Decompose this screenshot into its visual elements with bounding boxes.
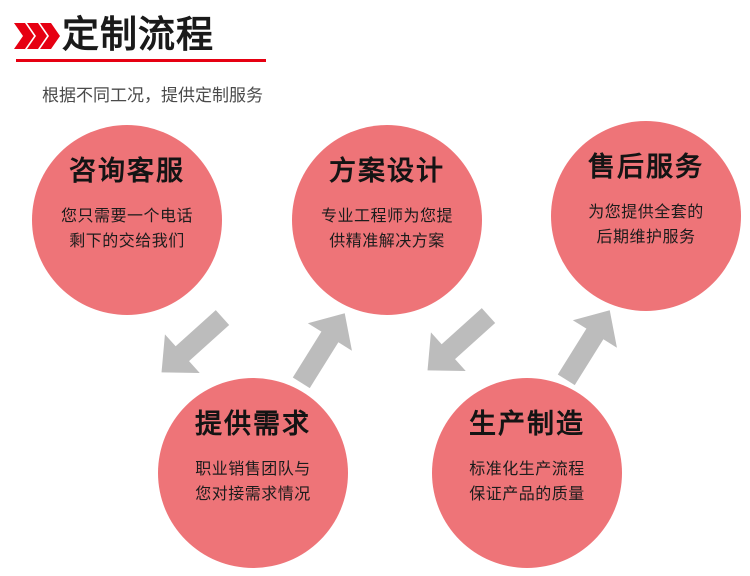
arrow-up-right-icon xyxy=(283,303,363,393)
flow-node-consultation[interactable]: 咨询客服 您只需要一个电话 剩下的交给我们 xyxy=(32,125,222,315)
flow-node-solution-design[interactable]: 方案设计 专业工程师为您提 供精准解决方案 xyxy=(292,125,482,315)
flow-node-description-line: 为您提供全套的 xyxy=(563,199,729,224)
flow-node-description-line: 您对接需求情况 xyxy=(170,481,336,506)
arrow-up-right-icon xyxy=(548,300,628,390)
flow-node-description: 为您提供全套的 后期维护服务 xyxy=(563,199,729,249)
flow-node-title: 生产制造 xyxy=(432,408,622,442)
flow-node-title: 咨询客服 xyxy=(32,155,222,189)
flow-node-requirements[interactable]: 提供需求 职业销售团队与 您对接需求情况 xyxy=(158,378,348,568)
arrow-down-right-icon xyxy=(152,300,232,390)
flow-node-description-line: 您只需要一个电话 xyxy=(44,203,210,228)
arrow-down-right-icon xyxy=(418,298,498,388)
flow-node-description-line: 职业销售团队与 xyxy=(170,456,336,481)
flow-node-description: 职业销售团队与 您对接需求情况 xyxy=(170,456,336,506)
flow-node-description: 标准化生产流程 保证产品的质量 xyxy=(444,456,610,506)
flow-node-description-line: 标准化生产流程 xyxy=(444,456,610,481)
flow-node-title: 售后服务 xyxy=(551,151,741,185)
flow-node-description: 您只需要一个电话 剩下的交给我们 xyxy=(44,203,210,253)
process-flow-diagram: 咨询客服 您只需要一个电话 剩下的交给我们 方案设计 专业工程师为您提 供精准解… xyxy=(0,0,750,576)
flow-node-description-line: 后期维护服务 xyxy=(563,224,729,249)
flow-node-title: 方案设计 xyxy=(292,155,482,189)
flow-node-description-line: 剩下的交给我们 xyxy=(44,228,210,253)
flow-node-production[interactable]: 生产制造 标准化生产流程 保证产品的质量 xyxy=(432,378,622,568)
flow-node-description-line: 保证产品的质量 xyxy=(444,481,610,506)
flow-node-description-line: 专业工程师为您提 xyxy=(304,203,470,228)
flow-node-after-sales[interactable]: 售后服务 为您提供全套的 后期维护服务 xyxy=(551,121,741,311)
flow-node-description-line: 供精准解决方案 xyxy=(304,228,470,253)
flow-node-description: 专业工程师为您提 供精准解决方案 xyxy=(304,203,470,253)
flow-node-title: 提供需求 xyxy=(158,408,348,442)
